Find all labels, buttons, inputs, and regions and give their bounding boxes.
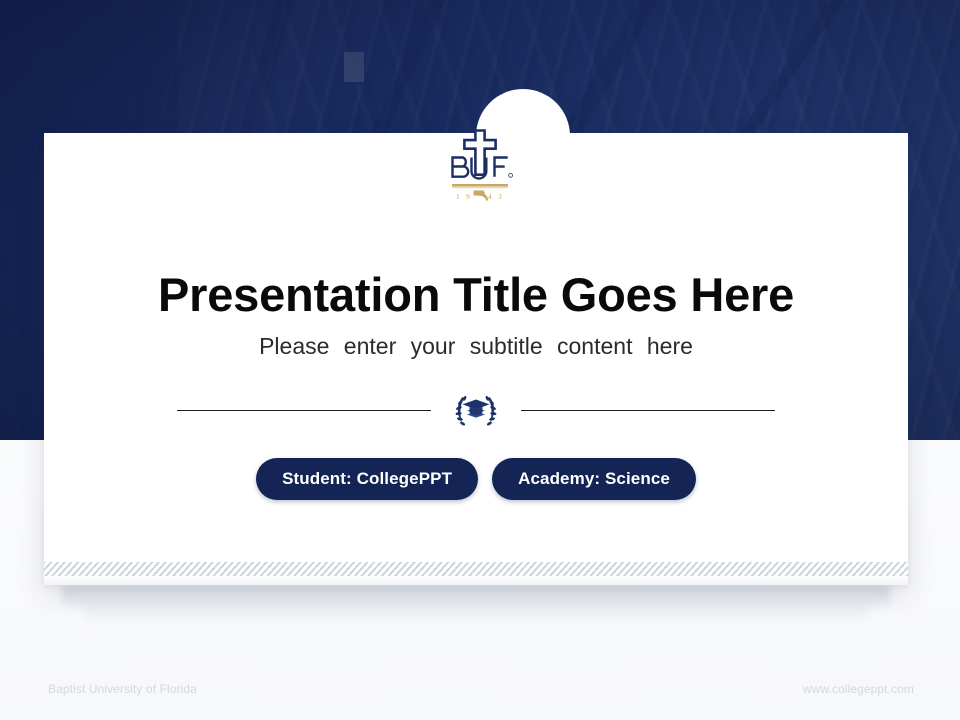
headline-zone: Presentation Title Goes Here Please ente… [44,268,908,360]
registered-mark-icon [509,174,513,178]
card-shadow-lower [86,606,866,622]
logo-gold-rule [452,184,508,187]
svg-text:3: 3 [498,192,503,201]
card-bottom-fade [44,576,908,585]
divider-rule-right [521,410,775,411]
card-shadow-upper [62,586,890,608]
mortarboard-icon [463,400,490,415]
slide-stage: 1 9 4 3 Presentation Title Goes Here Ple… [0,0,960,720]
svg-text:4: 4 [488,192,493,201]
footer-university-name: Baptist University of Florida [48,682,197,696]
student-badge[interactable]: Student: CollegePPT [256,458,478,500]
laurel-left [455,395,467,426]
svg-text:9: 9 [466,192,471,201]
card-hatch-strip [44,562,908,576]
page-title: Presentation Title Goes Here [44,268,908,322]
svg-text:1: 1 [456,192,461,201]
badge-row: Student: CollegePPT Academy: Science [44,458,908,500]
academy-badge[interactable]: Academy: Science [492,458,696,500]
florida-outline-icon [474,191,489,202]
divider-rule-left [177,410,431,411]
divider-with-crest [44,387,908,433]
footer-bar: Baptist University of Florida www.colleg… [0,682,960,704]
footer-website-url[interactable]: www.collegeppt.com [803,682,914,696]
graduation-cap-laurel-crest-icon [453,388,499,432]
logo-gold-rule-light [452,187,508,188]
laurel-right [485,395,497,426]
buf-university-logo: 1 9 4 3 [440,126,520,212]
page-subtitle: Please enter your subtitle content here [44,332,908,360]
buf-logo-svg: 1 9 4 3 [440,126,520,212]
